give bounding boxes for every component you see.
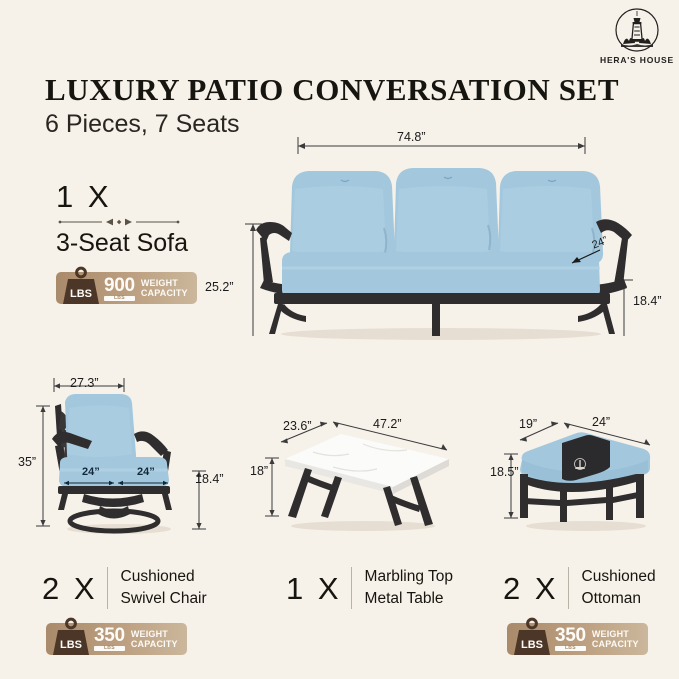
chair-seat-height-label: 18.4” bbox=[195, 472, 224, 486]
weight-icon: LBS bbox=[48, 617, 94, 657]
table-width-label: 47.2” bbox=[373, 417, 402, 431]
svg-text:LBS: LBS bbox=[521, 639, 543, 651]
ottoman-height-dimension bbox=[504, 454, 518, 518]
sofa-badge-capacity-line2: CAPACITY bbox=[141, 288, 188, 298]
ottoman-legend-block: 2 X Cushioned Ottoman LBS 350 bbox=[503, 566, 656, 655]
sofa-badge-unit: LBS bbox=[104, 296, 135, 301]
table-depth-label: 23.6” bbox=[283, 419, 312, 433]
page-subtitle: 6 Pieces, 7 Seats bbox=[45, 110, 240, 139]
sofa-illustration bbox=[236, 120, 656, 340]
sofa-badge-capacity-line1: WEIGHT bbox=[141, 278, 188, 288]
sofa-seat-cushions bbox=[282, 252, 600, 297]
table-height-label: 18” bbox=[250, 464, 268, 478]
chair-badge-value: 350 bbox=[94, 626, 125, 645]
weight-icon: LBS bbox=[58, 266, 104, 306]
sofa-height-dimension bbox=[245, 224, 262, 336]
sofa-seat-height-label: 18.4” bbox=[633, 294, 662, 308]
weight-icon: LBS bbox=[509, 617, 555, 657]
ottoman-badge-unit: LBS bbox=[555, 646, 586, 651]
chair-piece-name-line2: Swivel Chair bbox=[121, 588, 207, 610]
page-title: LUXURY PATIO CONVERSATION SET bbox=[45, 72, 619, 108]
sofa-height-label: 25.2” bbox=[205, 280, 234, 294]
sofa-width-label: 74.8” bbox=[397, 130, 426, 144]
ottoman-badge-capacity-line1: WEIGHT bbox=[592, 629, 639, 639]
chair-width-label: 27.3” bbox=[70, 376, 99, 390]
badge-lbs-glyph: LBS bbox=[70, 288, 92, 300]
chair-height-dimension bbox=[36, 406, 50, 526]
chair-badge-capacity-line2: CAPACITY bbox=[131, 639, 178, 649]
brand-name: HERA'S HOUSE bbox=[600, 55, 674, 65]
ottoman-height-label: 18.5” bbox=[490, 465, 519, 479]
lighthouse-icon bbox=[613, 6, 661, 54]
ottoman-piece-name-line1: Cushioned bbox=[582, 566, 656, 588]
table-legend-block: 1 X Marbling Top Metal Table bbox=[286, 566, 453, 611]
chair-badge-unit: LBS bbox=[94, 646, 125, 651]
svg-text:LBS: LBS bbox=[60, 639, 82, 651]
table-quantity: 1 X bbox=[286, 573, 342, 604]
table-piece-name-line2: Metal Table bbox=[365, 588, 453, 610]
chair-quantity: 2 X bbox=[42, 573, 98, 604]
ottoman-quantity: 2 X bbox=[503, 573, 559, 604]
chair-legend-block: 2 X Cushioned Swivel Chair LBS 350 bbox=[42, 566, 207, 655]
sofa-back-cushions bbox=[290, 168, 603, 264]
sofa-piece-name: 3-Seat Sofa bbox=[56, 229, 236, 258]
brand-logo: HERA'S HOUSE bbox=[600, 6, 674, 65]
chair-weight-badge: LBS 350 LBS WEIGHT CAPACITY bbox=[46, 623, 187, 655]
chair-seat-width-label: 24” bbox=[137, 466, 155, 478]
sofa-badge-value: 900 bbox=[104, 276, 135, 295]
chair-badge-capacity-line1: WEIGHT bbox=[131, 629, 178, 639]
chair-illustration bbox=[22, 366, 242, 546]
sofa-width-dimension bbox=[298, 137, 585, 154]
ottoman-piece-name-line2: Ottoman bbox=[582, 588, 656, 610]
ottoman-badge-capacity-line2: CAPACITY bbox=[592, 639, 639, 649]
chair-back-cushion bbox=[65, 394, 136, 463]
ottoman-depth-label: 19” bbox=[519, 417, 537, 431]
legend-divider bbox=[107, 567, 108, 609]
legend-divider bbox=[568, 567, 569, 609]
infographic-page: HERA'S HOUSE LUXURY PATIO CONVERSATION S… bbox=[0, 0, 679, 679]
table-illustration bbox=[243, 412, 458, 542]
ottoman-weight-badge: LBS 350 LBS WEIGHT CAPACITY bbox=[507, 623, 648, 655]
ornament-divider bbox=[58, 217, 180, 227]
chair-seat-depth-label: 24” bbox=[82, 466, 100, 478]
chair-piece-name-line1: Cushioned bbox=[121, 566, 207, 588]
sofa-quantity: 1 X bbox=[56, 180, 236, 214]
chair-height-label: 35” bbox=[18, 455, 36, 469]
sofa-weight-badge: LBS 900 LBS WEIGHT CAPACITY bbox=[56, 272, 197, 304]
legend-divider bbox=[351, 567, 352, 609]
ottoman-width-label: 24” bbox=[592, 415, 610, 429]
table-piece-name-line1: Marbling Top bbox=[365, 566, 453, 588]
table-marble-top bbox=[285, 434, 449, 494]
ottoman-badge-value: 350 bbox=[555, 626, 586, 645]
